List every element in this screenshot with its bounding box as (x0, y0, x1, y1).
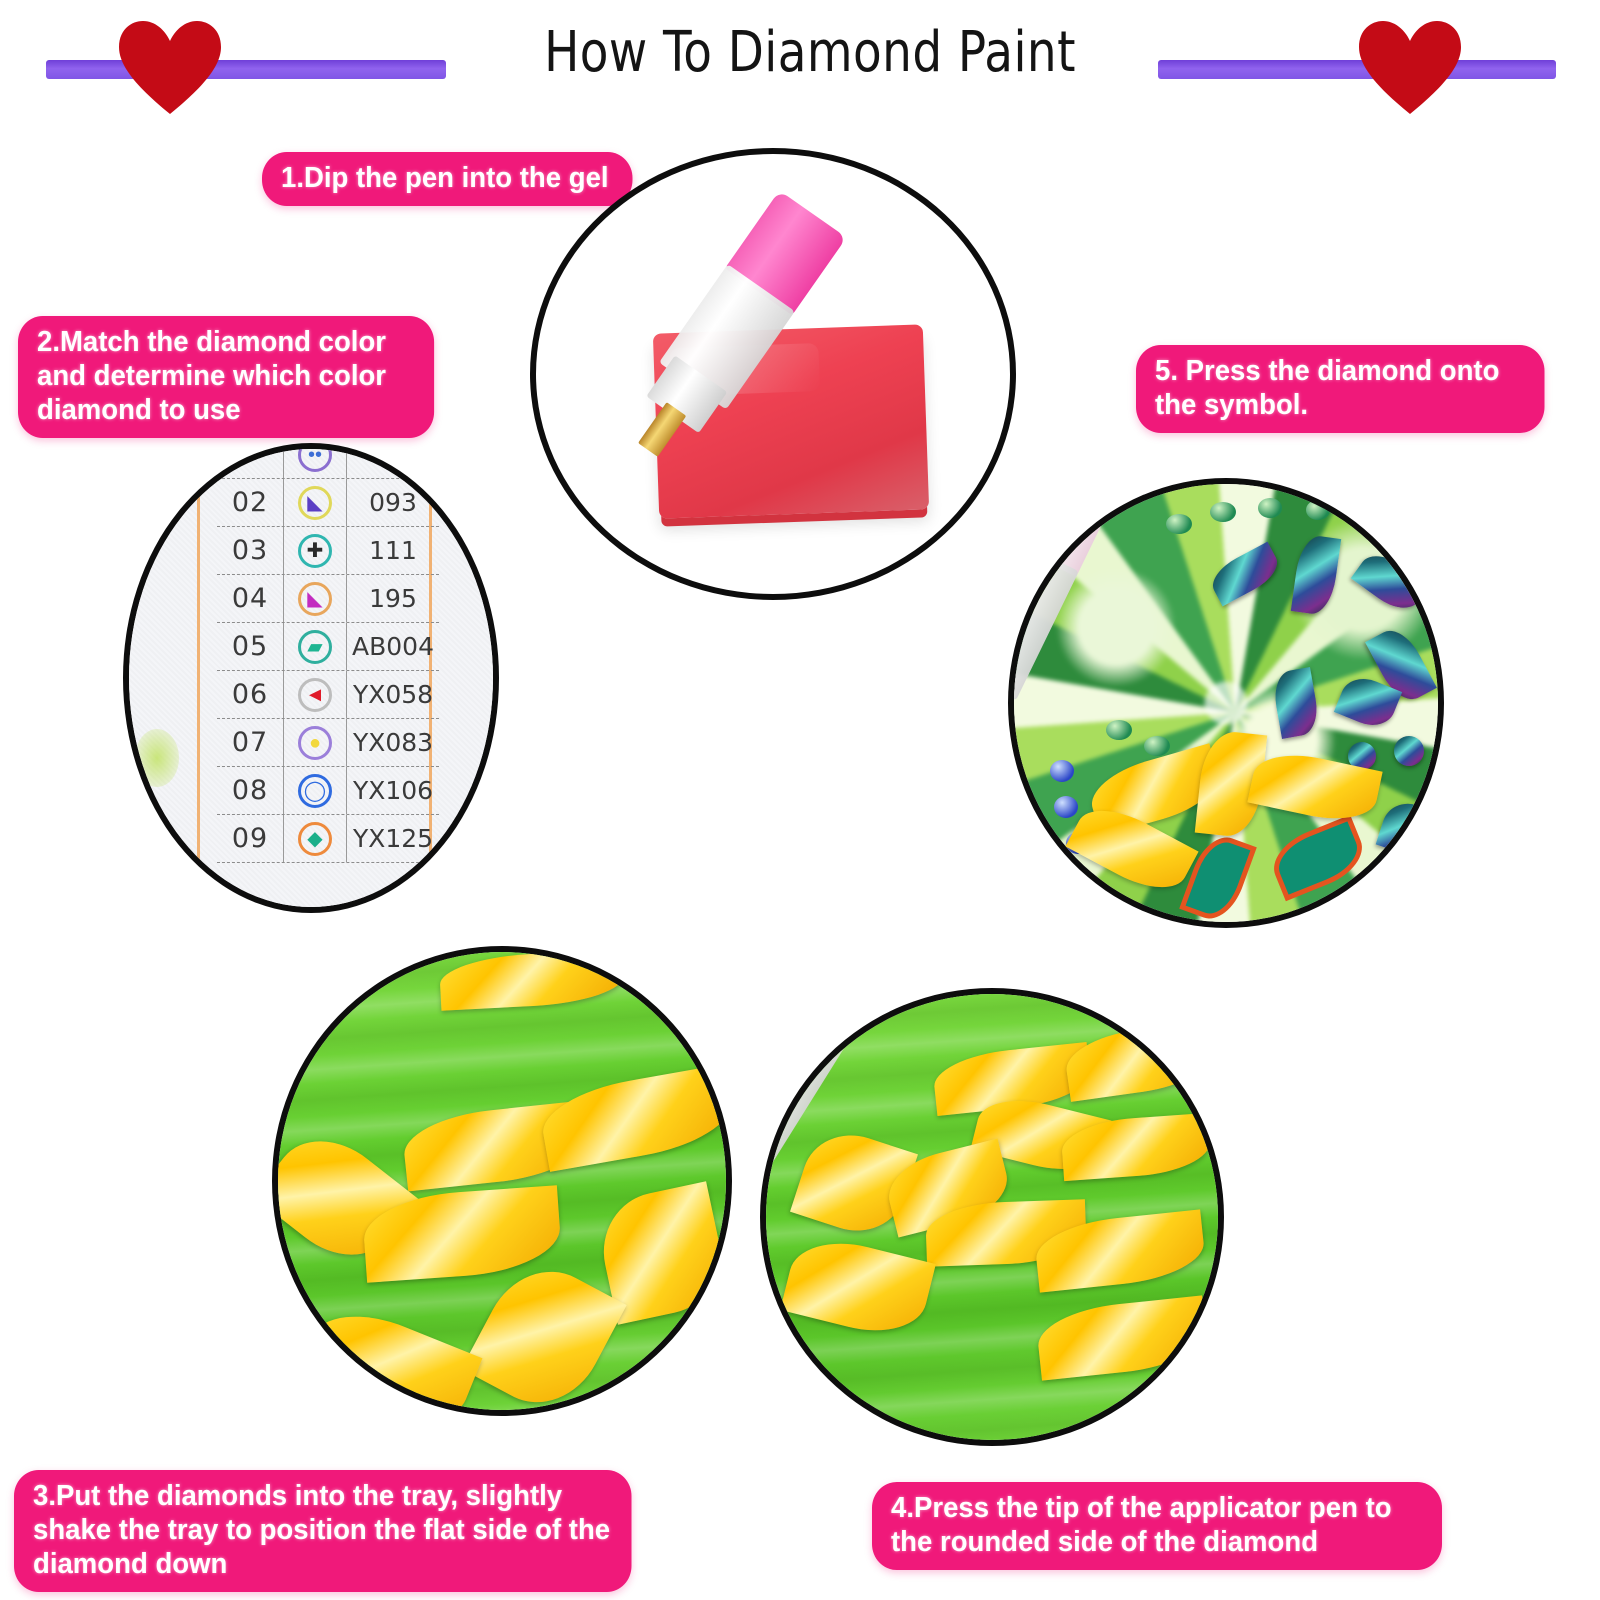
arrow-left-symbol: ◄ (298, 678, 332, 712)
printed-symbol-dot (1144, 736, 1170, 756)
chart-row-code: 026 (347, 443, 439, 469)
tray-scene (278, 952, 726, 1410)
step-4-label: 4.Press the tip of the applicator pen to… (872, 1482, 1442, 1570)
pen-collar (760, 1126, 764, 1210)
printed-symbol-dot (1166, 514, 1192, 534)
chart-row-code: 111 (347, 536, 439, 565)
printed-symbol-dot (1306, 500, 1330, 520)
printed-symbol-dot (1210, 502, 1236, 522)
canvas-smudge (129, 879, 175, 909)
chart-row-symbol-cell: ◯ (283, 767, 347, 814)
color-chart-row: 04◣195 (217, 575, 439, 623)
ring-symbol: ◯ (298, 774, 332, 808)
color-chart-row: 09◆YX125 (217, 815, 439, 863)
chart-row-number: 06 (217, 679, 283, 710)
press-scene (766, 994, 1218, 1440)
printed-symbol-dot (1258, 498, 1282, 518)
chart-row-number: 08 (217, 775, 283, 806)
step-3-illustration (272, 946, 732, 1416)
chart-row-number: 02 (217, 487, 283, 518)
chart-row-symbol-cell: ● (283, 719, 347, 766)
step-3-label: 3.Put the diamonds into the tray, slight… (14, 1470, 632, 1592)
triangle-symbol: ◣ (298, 582, 332, 616)
chart-row-symbol-cell: ◄ (283, 671, 347, 718)
chart-row-number: 09 (217, 823, 283, 854)
gel-scene (536, 154, 1010, 594)
chart-row-symbol-cell: ◣ (283, 575, 347, 622)
color-chart-table: ••02602◣09303✚11104◣19505▰AB00406◄YX0580… (217, 443, 439, 863)
chart-row-number: 05 (217, 631, 283, 662)
chart-row-number: 04 (217, 583, 283, 614)
chart-row-symbol-cell: ◆ (283, 815, 347, 862)
triangle-symbol: ◣ (298, 486, 332, 520)
color-chart-row: ••026 (217, 443, 439, 479)
chart-row-code: 195 (347, 584, 439, 613)
printed-symbol-dot (1106, 720, 1132, 740)
chart-row-code: YX125 (347, 824, 439, 853)
color-chart-paper: ••02602◣09303✚11104◣19505▰AB00406◄YX0580… (129, 449, 493, 907)
plus-symbol: ✚ (298, 534, 332, 568)
chart-row-symbol-cell: ✚ (283, 527, 347, 574)
chart-row-code: YX106 (347, 776, 439, 805)
color-chart-row: 05▰AB004 (217, 623, 439, 671)
leaf-symbol: ◆ (298, 822, 332, 856)
step-1-illustration (530, 148, 1016, 600)
capsule-symbol: ▰ (298, 630, 332, 664)
color-chart-row: 02◣093 (217, 479, 439, 527)
chart-row-code: AB004 (347, 632, 439, 661)
heart-icon (1355, 18, 1465, 118)
color-chart-row: 03✚111 (217, 527, 439, 575)
page-title: How To Diamond Paint (466, 22, 1154, 84)
step-2-illustration: ••02602◣09303✚11104◣19505▰AB00406◄YX0580… (123, 443, 499, 913)
mandala-scene (1014, 484, 1438, 922)
chart-row-number: 07 (217, 727, 283, 758)
heart-icon (115, 18, 225, 118)
chart-row-symbol-cell: •• (283, 443, 347, 478)
double-dot-circle-symbol: •• (298, 443, 332, 472)
step-2-label: 2.Match the diamond color and determine … (18, 316, 434, 438)
filled-circle-symbol: ● (298, 726, 332, 760)
diamond-gem (1394, 736, 1424, 766)
color-chart-row: 08◯YX106 (217, 767, 439, 815)
printed-symbol-dot (1054, 796, 1078, 818)
color-chart-row: 06◄YX058 (217, 671, 439, 719)
chart-row-code: 093 (347, 488, 439, 517)
chart-row-code: YX058 (347, 680, 439, 709)
chart-row-symbol-cell: ◣ (283, 479, 347, 526)
color-chart-row: 07●YX083 (217, 719, 439, 767)
step-4-illustration (760, 988, 1224, 1446)
chart-row-number: 03 (217, 535, 283, 566)
header-divider-bar-left (46, 60, 446, 79)
printed-symbol-dot (1050, 760, 1074, 782)
chart-margin-line (197, 449, 200, 907)
infographic-canvas: How To Diamond Paint 1.Dip the pen into … (0, 0, 1600, 1600)
chart-row-symbol-cell: ▰ (283, 623, 347, 670)
step-5-illustration (1008, 478, 1444, 928)
step-5-label: 5. Press the diamond onto the symbol. (1136, 345, 1545, 433)
chart-row-code: YX083 (347, 728, 439, 757)
canvas-smudge (135, 729, 179, 787)
